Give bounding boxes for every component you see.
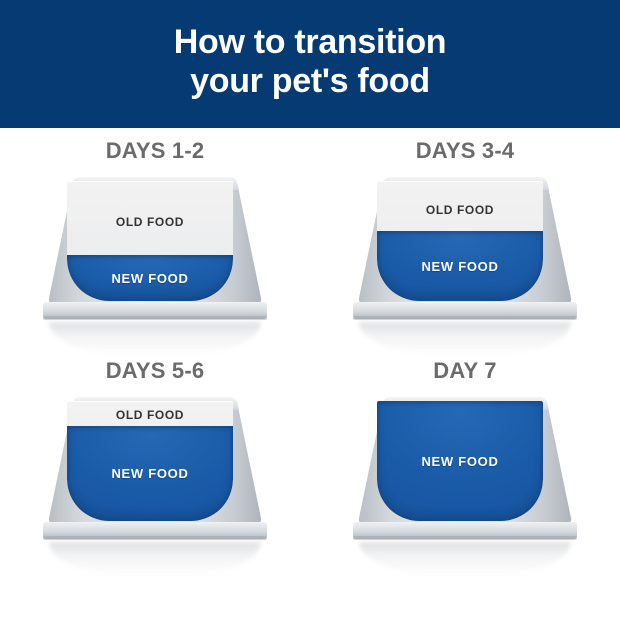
new-food-fill: NEW FOOD — [67, 426, 233, 521]
stage-card-day-7: DAY 7 NEW FOOD — [310, 360, 620, 580]
stage-heading: DAYS 1-2 — [106, 140, 205, 162]
new-food-fill: NEW FOOD — [377, 231, 543, 301]
old-food-label: OLD FOOD — [67, 408, 233, 422]
pet-food-bowl: OLD FOOD NEW FOOD — [39, 176, 271, 328]
food-level-panel: OLD FOOD NEW FOOD — [67, 401, 233, 521]
new-food-label: NEW FOOD — [111, 271, 188, 286]
stage-card-days-1-2: DAYS 1-2 — [0, 140, 310, 360]
new-food-fill: NEW FOOD — [377, 401, 543, 521]
pet-food-bowl: NEW FOOD — [349, 396, 581, 548]
food-level-panel: OLD FOOD NEW FOOD — [67, 181, 233, 301]
stage-heading: DAYS 5-6 — [106, 360, 205, 382]
new-food-fill: NEW FOOD — [67, 255, 233, 301]
stage-card-days-3-4: DAYS 3-4 OLD FOOD NEW FOOD — [310, 140, 620, 360]
food-level-panel: NEW FOOD — [377, 401, 543, 521]
page-title: How to transition your pet's food — [174, 23, 447, 102]
stage-grid: DAYS 1-2 — [0, 128, 620, 580]
stage-heading: DAYS 3-4 — [416, 140, 515, 162]
new-food-label: NEW FOOD — [421, 454, 498, 469]
old-food-label: OLD FOOD — [67, 215, 233, 229]
old-food-label: OLD FOOD — [377, 203, 543, 217]
header-banner: How to transition your pet's food — [0, 0, 620, 128]
stages-area: DAYS 1-2 — [0, 128, 620, 620]
new-food-label: NEW FOOD — [111, 466, 188, 481]
food-level-panel: OLD FOOD NEW FOOD — [377, 181, 543, 301]
stage-card-days-5-6: DAYS 5-6 OLD FOOD NEW FOOD — [0, 360, 310, 580]
pet-food-bowl: OLD FOOD NEW FOOD — [349, 176, 581, 328]
new-food-label: NEW FOOD — [421, 259, 498, 274]
stage-heading: DAY 7 — [433, 360, 496, 382]
pet-food-bowl: OLD FOOD NEW FOOD — [39, 396, 271, 548]
